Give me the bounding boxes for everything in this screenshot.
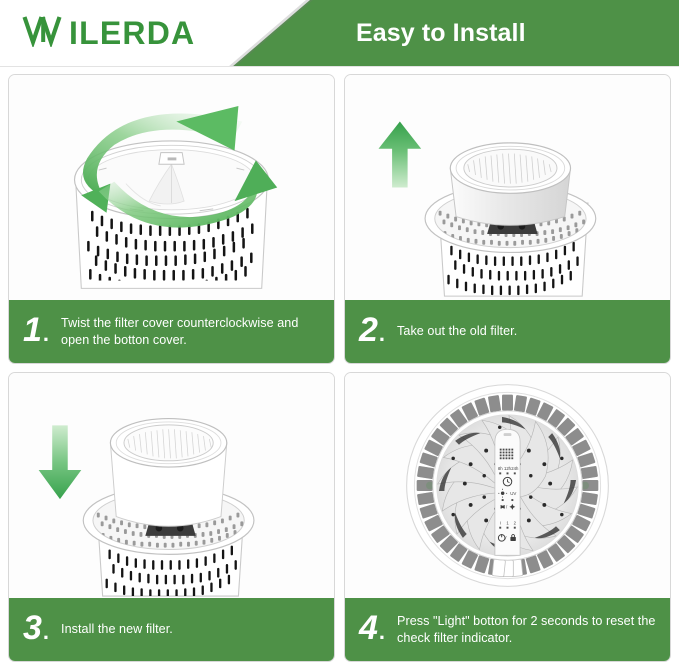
step-number-4: 4. xyxy=(359,611,385,649)
step-caption-4: 4. Press "Light" botton for 2 seconds to… xyxy=(345,598,670,661)
step-text-1: Twist the filter cover counterclockwise … xyxy=(61,315,326,348)
header-underline xyxy=(0,66,679,67)
step-text-4: Press "Light" botton for 2 seconds to re… xyxy=(397,613,662,646)
svg-text:UV: UV xyxy=(510,491,516,496)
step-number-1: 1. xyxy=(23,313,49,351)
uv-icon: UV xyxy=(510,491,516,496)
illustration-air-purifier-top-view-fan-control-panel: 8h 12h 24h xyxy=(345,373,670,598)
step-number-3: 3. xyxy=(23,611,49,649)
step-number-2: 2. xyxy=(359,313,385,351)
product-instruction-graphic: ILERDA Easy to Install xyxy=(0,0,679,668)
control-panel-strip: 8h 12h 24h xyxy=(495,429,520,555)
page-title: Easy to Install xyxy=(356,18,526,48)
step-caption-3: 3. Install the new filter. xyxy=(9,598,334,661)
step-text-2: Take out the old filter. xyxy=(397,323,517,340)
svg-text:8h: 8h xyxy=(498,466,503,471)
svg-text:24h: 24h xyxy=(511,466,519,471)
step-caption-2: 2. Take out the old filter. xyxy=(345,300,670,363)
step-panel-2: 2. Take out the old filter. xyxy=(344,74,671,364)
step-text-3: Install the new filter. xyxy=(61,621,173,638)
illustration-air-purifier-filter-lifting-out xyxy=(345,75,670,300)
step-panel-1: 1. Twist the filter cover counterclockwi… xyxy=(8,74,335,364)
header-bar: ILERDA Easy to Install xyxy=(0,0,679,67)
step-panel-3: 3. Install the new filter. xyxy=(8,372,335,662)
brand-logo-text: ILERDA xyxy=(69,17,195,49)
illustration-air-purifier-filter-inserting xyxy=(9,373,334,598)
w-monogram-icon xyxy=(22,14,68,52)
step-caption-1: 1. Twist the filter cover counterclockwi… xyxy=(9,300,334,363)
svg-text:I: I xyxy=(500,520,501,525)
steps-grid: 1. Twist the filter cover counterclockwi… xyxy=(8,74,671,662)
step-panel-4: 8h 12h 24h xyxy=(344,372,671,662)
illustration-air-purifier-top-open-rotate xyxy=(9,75,334,300)
brand-logo: ILERDA xyxy=(22,13,195,53)
